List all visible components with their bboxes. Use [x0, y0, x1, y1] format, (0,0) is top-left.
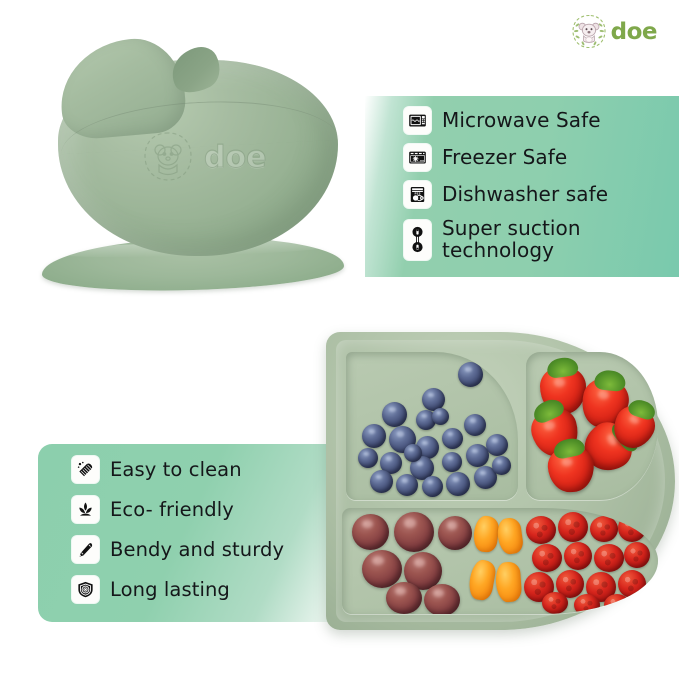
dishwasher-icon: P15 — [404, 181, 431, 208]
feature-freezer-safe: Freezer Safe — [404, 144, 608, 171]
brand-logo: doe — [569, 12, 657, 52]
feature-label: Microwave Safe — [442, 110, 601, 132]
feature-label: Eco- friendly — [110, 499, 234, 520]
shield-target-icon — [72, 576, 99, 603]
leaf-eco-icon — [72, 496, 99, 523]
feature-label: Super suction technology — [442, 218, 581, 261]
feature-label: Bendy and sturdy — [110, 539, 284, 560]
material-features-list: Easy to clean Eco- friendly — [72, 456, 284, 603]
feature-microwave-safe: Microwave Safe — [404, 107, 608, 134]
feature-long-lasting: Long lasting — [72, 576, 284, 603]
feature-dishwasher-safe: P15 Dishwasher safe — [404, 181, 608, 208]
suction-cup-icon — [404, 220, 431, 260]
microwave-icon — [404, 107, 431, 134]
feature-label: Easy to clean — [110, 459, 242, 480]
compartment-strawberries — [526, 352, 658, 500]
feature-easy-to-clean: Easy to clean — [72, 456, 284, 483]
divided-suction-plate — [328, 332, 673, 630]
freezer-icon — [404, 144, 431, 171]
brand-wordmark: doe — [611, 21, 657, 44]
sponge-clean-icon — [72, 456, 99, 483]
feature-label: Freezer Safe — [442, 147, 567, 169]
feature-super-suction: Super suction technology — [404, 218, 608, 261]
infographic-canvas: doe doe — [0, 0, 679, 679]
silicone-suction-bowl: doe — [18, 38, 368, 290]
bendy-spoon-icon — [72, 536, 99, 563]
feature-label: Long lasting — [110, 579, 230, 600]
compartment-mixed — [342, 508, 658, 614]
koala-wreath-icon — [569, 12, 609, 52]
feature-bendy-and-sturdy: Bendy and sturdy — [72, 536, 284, 563]
bowl-embossed-wordmark: doe — [204, 140, 266, 175]
feature-label: Dishwasher safe — [442, 184, 608, 206]
care-features-list: Microwave Safe Freezer Safe — [404, 107, 608, 261]
feature-eco-friendly: Eco- friendly — [72, 496, 284, 523]
bowl-embossed-logo: doe — [136, 126, 296, 186]
